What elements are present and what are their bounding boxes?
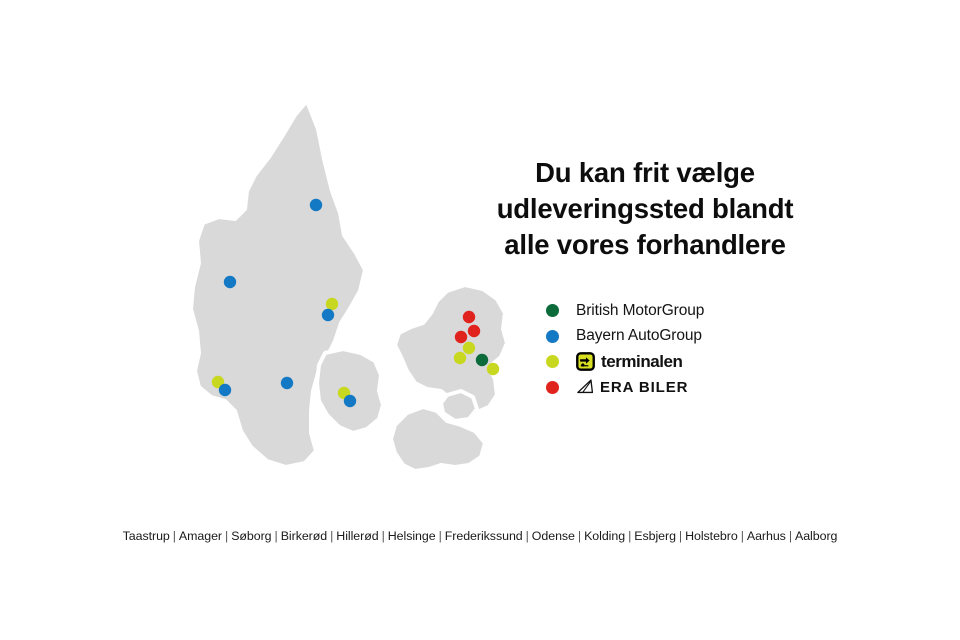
legend-label-bayern-autogroup: Bayern AutoGroup (576, 327, 702, 345)
map-dot-aarhus-blue[interactable] (322, 309, 334, 321)
city-separator: | (327, 529, 336, 543)
city-name-birker-d: Birkerød (281, 529, 327, 543)
legend-swatch-green (546, 304, 559, 317)
map-dot-aarhus-yellow[interactable] (326, 298, 338, 310)
map-dot-kolding-blue[interactable] (281, 377, 293, 389)
map-dot-holstebro[interactable] (224, 276, 236, 288)
era-biler-triangle-icon (576, 379, 595, 395)
city-name-hiller-d: Hillerød (336, 529, 378, 543)
terminalen-mark-icon (576, 352, 595, 371)
legend-item-bayern-autogroup: Bayern AutoGroup (546, 324, 806, 350)
map-dot-taastrup-yellow[interactable] (454, 352, 466, 364)
legend-item-terminalen: terminalen (546, 349, 806, 375)
headline-line-2: udleveringssted blandt (470, 191, 820, 227)
map-dot-soborg-green[interactable] (476, 354, 488, 366)
city-list: Taastrup|Amager|Søborg|Birkerød|Hillerød… (0, 529, 960, 543)
city-name-amager: Amager (179, 529, 222, 543)
city-separator: | (170, 529, 179, 543)
map-region-funen (317, 349, 383, 433)
city-separator: | (222, 529, 231, 543)
city-name-odense: Odense (532, 529, 575, 543)
map-dot-birkerod-yellow[interactable] (463, 342, 475, 354)
poster-canvas: Du kan frit vælge udleveringssted blandt… (0, 0, 960, 640)
brand-legend: British MotorGroup Bayern AutoGroup term… (546, 298, 806, 400)
city-name-helsinge: Helsinge (388, 529, 436, 543)
legend-item-british-motorgroup: British MotorGroup (546, 298, 806, 324)
city-separator: | (738, 529, 747, 543)
city-separator: | (625, 529, 634, 543)
city-separator: | (436, 529, 445, 543)
map-dot-hillerod-red[interactable] (468, 325, 480, 337)
map-dot-odense-blue[interactable] (344, 395, 356, 407)
map-dot-esbjerg-blue[interactable] (219, 384, 231, 396)
legend-label-british-motorgroup: British MotorGroup (576, 302, 704, 320)
legend-item-era-biler: ERA BILER (546, 375, 806, 401)
city-separator: | (272, 529, 281, 543)
map-dot-aalborg[interactable] (310, 199, 322, 211)
terminalen-logo: terminalen (576, 352, 682, 372)
city-separator: | (786, 529, 795, 543)
city-name-frederikssund: Frederikssund (445, 529, 523, 543)
city-name-taastrup: Taastrup (123, 529, 170, 543)
city-name-esbjerg: Esbjerg (634, 529, 676, 543)
city-name-s-borg: Søborg (231, 529, 271, 543)
city-separator: | (523, 529, 532, 543)
city-name-aalborg: Aalborg (795, 529, 837, 543)
headline-line-1: Du kan frit vælge (470, 155, 820, 191)
map-landmasses (191, 101, 507, 471)
map-dot-frederikssund-red[interactable] (455, 331, 467, 343)
terminalen-logo-text: terminalen (601, 352, 682, 372)
headline-line-3: alle vores forhandlere (470, 227, 820, 263)
city-name-kolding: Kolding (584, 529, 625, 543)
city-separator: | (379, 529, 388, 543)
city-separator: | (575, 529, 584, 543)
city-name-holstebro: Holstebro (685, 529, 738, 543)
legend-swatch-blue (546, 330, 559, 343)
map-region-south-spur (441, 391, 477, 421)
legend-swatch-yellow (546, 355, 559, 368)
era-biler-logo: ERA BILER (576, 379, 688, 396)
city-separator: | (676, 529, 685, 543)
city-name-aarhus: Aarhus (747, 529, 786, 543)
map-dot-helsinge-red[interactable] (463, 311, 475, 323)
era-biler-logo-text: ERA BILER (600, 379, 688, 396)
page-headline: Du kan frit vælge udleveringssted blandt… (470, 155, 820, 263)
map-dot-amager-yellow[interactable] (487, 363, 499, 375)
map-svg (185, 95, 515, 500)
legend-swatch-red (546, 381, 559, 394)
denmark-map (185, 95, 515, 500)
